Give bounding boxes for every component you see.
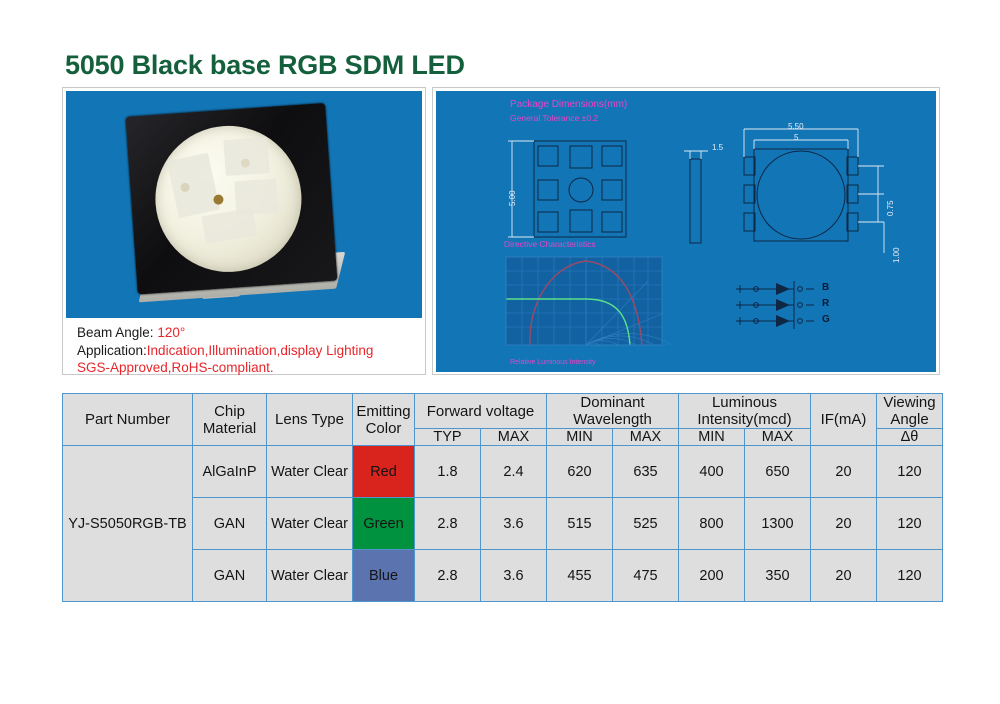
- cell-iv-max: 650: [745, 446, 811, 498]
- led-lens: [151, 121, 307, 277]
- cell-wl-max: 475: [613, 550, 679, 602]
- specification-table: Part Number Chip Material Lens Type Emit…: [62, 393, 943, 602]
- chart-xlabel: Relative Luminous Intensity: [510, 359, 596, 366]
- cell-chip-material: AlGaInP: [193, 446, 267, 498]
- subcol-iv-min: MIN: [679, 429, 745, 446]
- cell-chip-material: GAN: [193, 550, 267, 602]
- pad-pitch-dim: 0.75: [886, 200, 895, 216]
- cell-emitting-color: Green: [353, 498, 415, 550]
- col-luminous-intensity: Luminous Intensity(mcd): [679, 394, 811, 429]
- col-lens-type: Lens Type: [267, 394, 353, 446]
- col-chip-material: Chip Material: [193, 394, 267, 446]
- beam-angle-value: 120°: [157, 325, 185, 340]
- cell-vf-typ: 1.8: [415, 446, 481, 498]
- beam-angle-label: Beam Angle:: [77, 325, 154, 340]
- cell-part-number: YJ-S5050RGB-TB: [63, 446, 193, 602]
- cell-viewing-angle: 120: [877, 446, 943, 498]
- subcol-vf-typ: TYP: [415, 429, 481, 446]
- table-row: GAN Water Clear Green 2.8 3.6 515 525 80…: [63, 498, 943, 550]
- col-forward-voltage: Forward voltage: [415, 394, 547, 429]
- package-drawing: Package Dimensions(mm) General Tolerance…: [436, 91, 936, 372]
- application-line: Application:Indication,Illumination,disp…: [77, 342, 417, 360]
- pin-label-b: B: [822, 282, 829, 293]
- subcol-delta-theta: Δθ: [877, 429, 943, 446]
- subcol-wl-min: MIN: [547, 429, 613, 446]
- pin-polarity-diagram: [732, 279, 862, 339]
- subcol-iv-max: MAX: [745, 429, 811, 446]
- bond-wire-dot: [213, 194, 224, 205]
- led-black-body: [125, 103, 337, 295]
- directive-characteristics-chart: [478, 251, 688, 363]
- led-product-photo: [66, 91, 422, 318]
- cell-viewing-angle: 120: [877, 550, 943, 602]
- cell-if-ma: 20: [811, 498, 877, 550]
- page-title: 5050 Black base RGB SDM LED: [65, 50, 465, 81]
- cell-lens-type: Water Clear: [267, 446, 353, 498]
- bottom-view-height-dim: 5.00: [508, 190, 517, 206]
- pin-label-g: G: [822, 314, 830, 325]
- application-value: Indication,Illumination,display Lighting: [147, 343, 374, 358]
- cell-if-ma: 20: [811, 446, 877, 498]
- chart-title: Directive Characteristics: [504, 239, 596, 249]
- cell-iv-min: 800: [679, 498, 745, 550]
- col-emitting-color: Emitting Color: [353, 394, 415, 446]
- col-dominant-wavelength: Dominant Wavelength: [547, 394, 679, 429]
- cell-vf-max: 2.4: [481, 446, 547, 498]
- beam-angle-line: Beam Angle: 120°: [77, 324, 417, 342]
- pin-label-r: R: [822, 298, 829, 309]
- led-die: [201, 208, 257, 245]
- cell-chip-material: GAN: [193, 498, 267, 550]
- datasheet-page: 5050 Black base RGB SDM LED: [0, 0, 1000, 704]
- col-if-ma: IF(mA): [811, 394, 877, 446]
- col-part-number: Part Number: [63, 394, 193, 446]
- cell-vf-typ: 2.8: [415, 550, 481, 602]
- cell-wl-max: 635: [613, 446, 679, 498]
- top-view-outer-width-dim: 5.50: [788, 122, 804, 131]
- side-view-thickness-dim: 1.5: [712, 143, 723, 152]
- subcol-vf-max: MAX: [481, 429, 547, 446]
- cell-wl-min: 515: [547, 498, 613, 550]
- product-photo-panel: Beam Angle: 120° Application:Indication,…: [62, 87, 426, 375]
- cell-wl-min: 455: [547, 550, 613, 602]
- cell-vf-max: 3.6: [481, 498, 547, 550]
- cell-viewing-angle: 120: [877, 498, 943, 550]
- cell-iv-min: 200: [679, 550, 745, 602]
- top-view-inner-width-dim: 5: [794, 133, 798, 142]
- led-die: [167, 153, 220, 218]
- pad-offset-dim: 1.00: [892, 247, 901, 263]
- cell-iv-max: 350: [745, 550, 811, 602]
- cell-lens-type: Water Clear: [267, 550, 353, 602]
- cell-vf-max: 3.6: [481, 550, 547, 602]
- led-die: [223, 137, 269, 176]
- cell-iv-min: 400: [679, 446, 745, 498]
- compliance-line: SGS-Approved,RoHS-compliant.: [77, 359, 417, 377]
- cell-if-ma: 20: [811, 550, 877, 602]
- table-row: YJ-S5050RGB-TB AlGaInP Water Clear Red 1…: [63, 446, 943, 498]
- cell-iv-max: 1300: [745, 498, 811, 550]
- product-caption: Beam Angle: 120° Application:Indication,…: [77, 324, 417, 377]
- package-drawing-panel: Package Dimensions(mm) General Tolerance…: [432, 87, 940, 375]
- cell-vf-typ: 2.8: [415, 498, 481, 550]
- cell-emitting-color: Blue: [353, 550, 415, 602]
- cell-lens-type: Water Clear: [267, 498, 353, 550]
- cell-emitting-color: Red: [353, 446, 415, 498]
- drawing-heading: Package Dimensions(mm): [510, 99, 627, 110]
- cell-wl-max: 525: [613, 498, 679, 550]
- table-header-row-1: Part Number Chip Material Lens Type Emit…: [63, 394, 943, 429]
- subcol-wl-max: MAX: [613, 429, 679, 446]
- drawing-subheading: General Tolerance ±0.2: [510, 113, 598, 123]
- table-row: GAN Water Clear Blue 2.8 3.6 455 475 200…: [63, 550, 943, 602]
- col-viewing-angle: Viewing Angle: [877, 394, 943, 429]
- side-view-drawing: [682, 141, 722, 261]
- application-label: Application:: [77, 343, 147, 358]
- cell-wl-min: 620: [547, 446, 613, 498]
- led-package-illustration: [125, 102, 358, 312]
